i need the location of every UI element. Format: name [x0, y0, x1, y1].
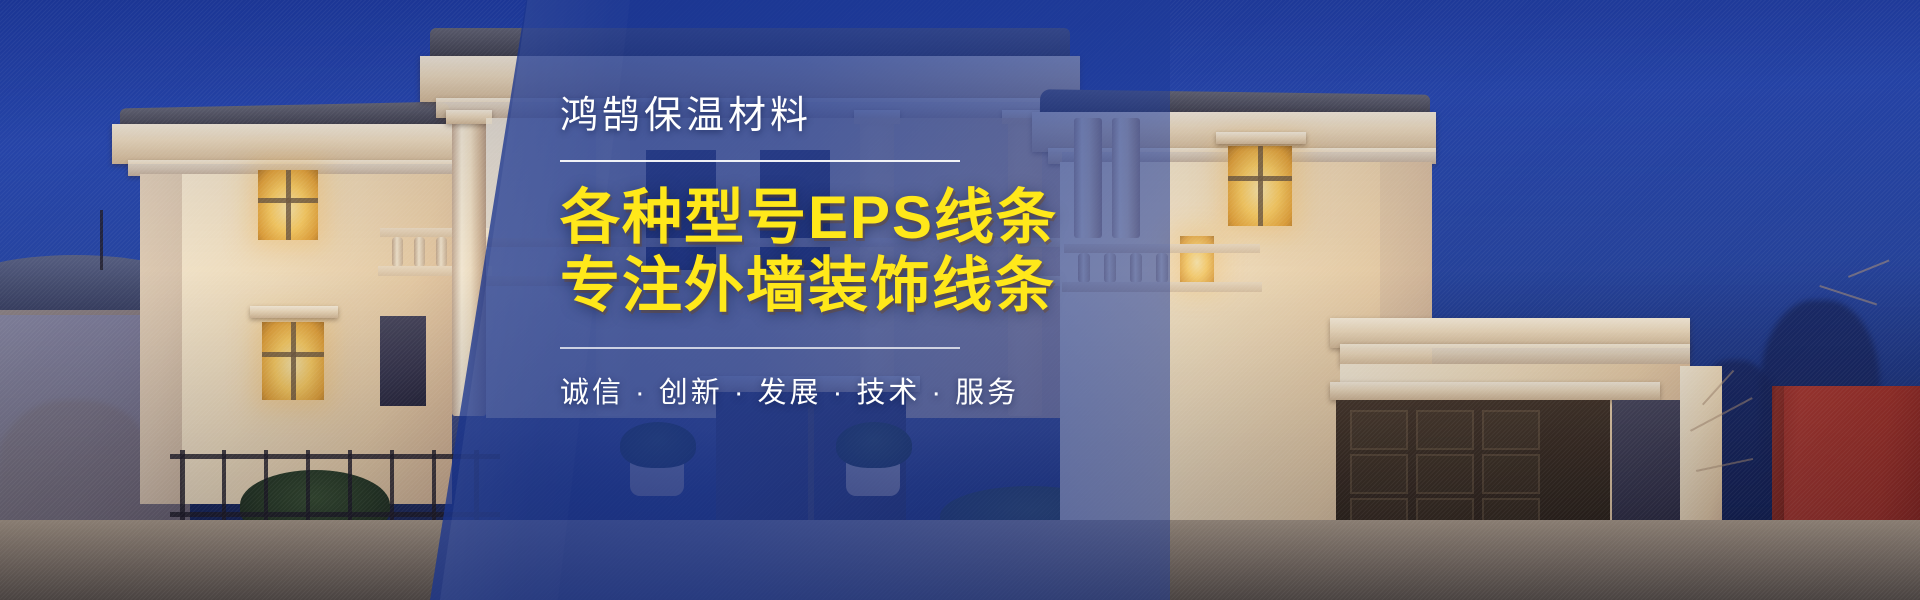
promo-banner: 鸿鹄保温材料 各种型号EPS线条 专注外墙装饰线条 诚信 · 创新 · 发展 ·…: [0, 0, 1920, 600]
headline-line-1: 各种型号EPS线条: [560, 184, 1058, 251]
banner-copy: 鸿鹄保温材料 各种型号EPS线条 专注外墙装饰线条 诚信 · 创新 · 发展 ·…: [560, 96, 1200, 411]
brand-name: 鸿鹄保温材料: [560, 96, 1200, 138]
divider-bottom: [560, 347, 960, 349]
headline: 各种型号EPS线条 专注外墙装饰线条: [560, 184, 1200, 321]
tagline: 诚信 · 创新 · 发展 · 技术 · 服务: [560, 369, 1200, 411]
headline-line-2: 专注外墙装饰线条: [560, 252, 1200, 320]
divider-top: [560, 160, 960, 162]
